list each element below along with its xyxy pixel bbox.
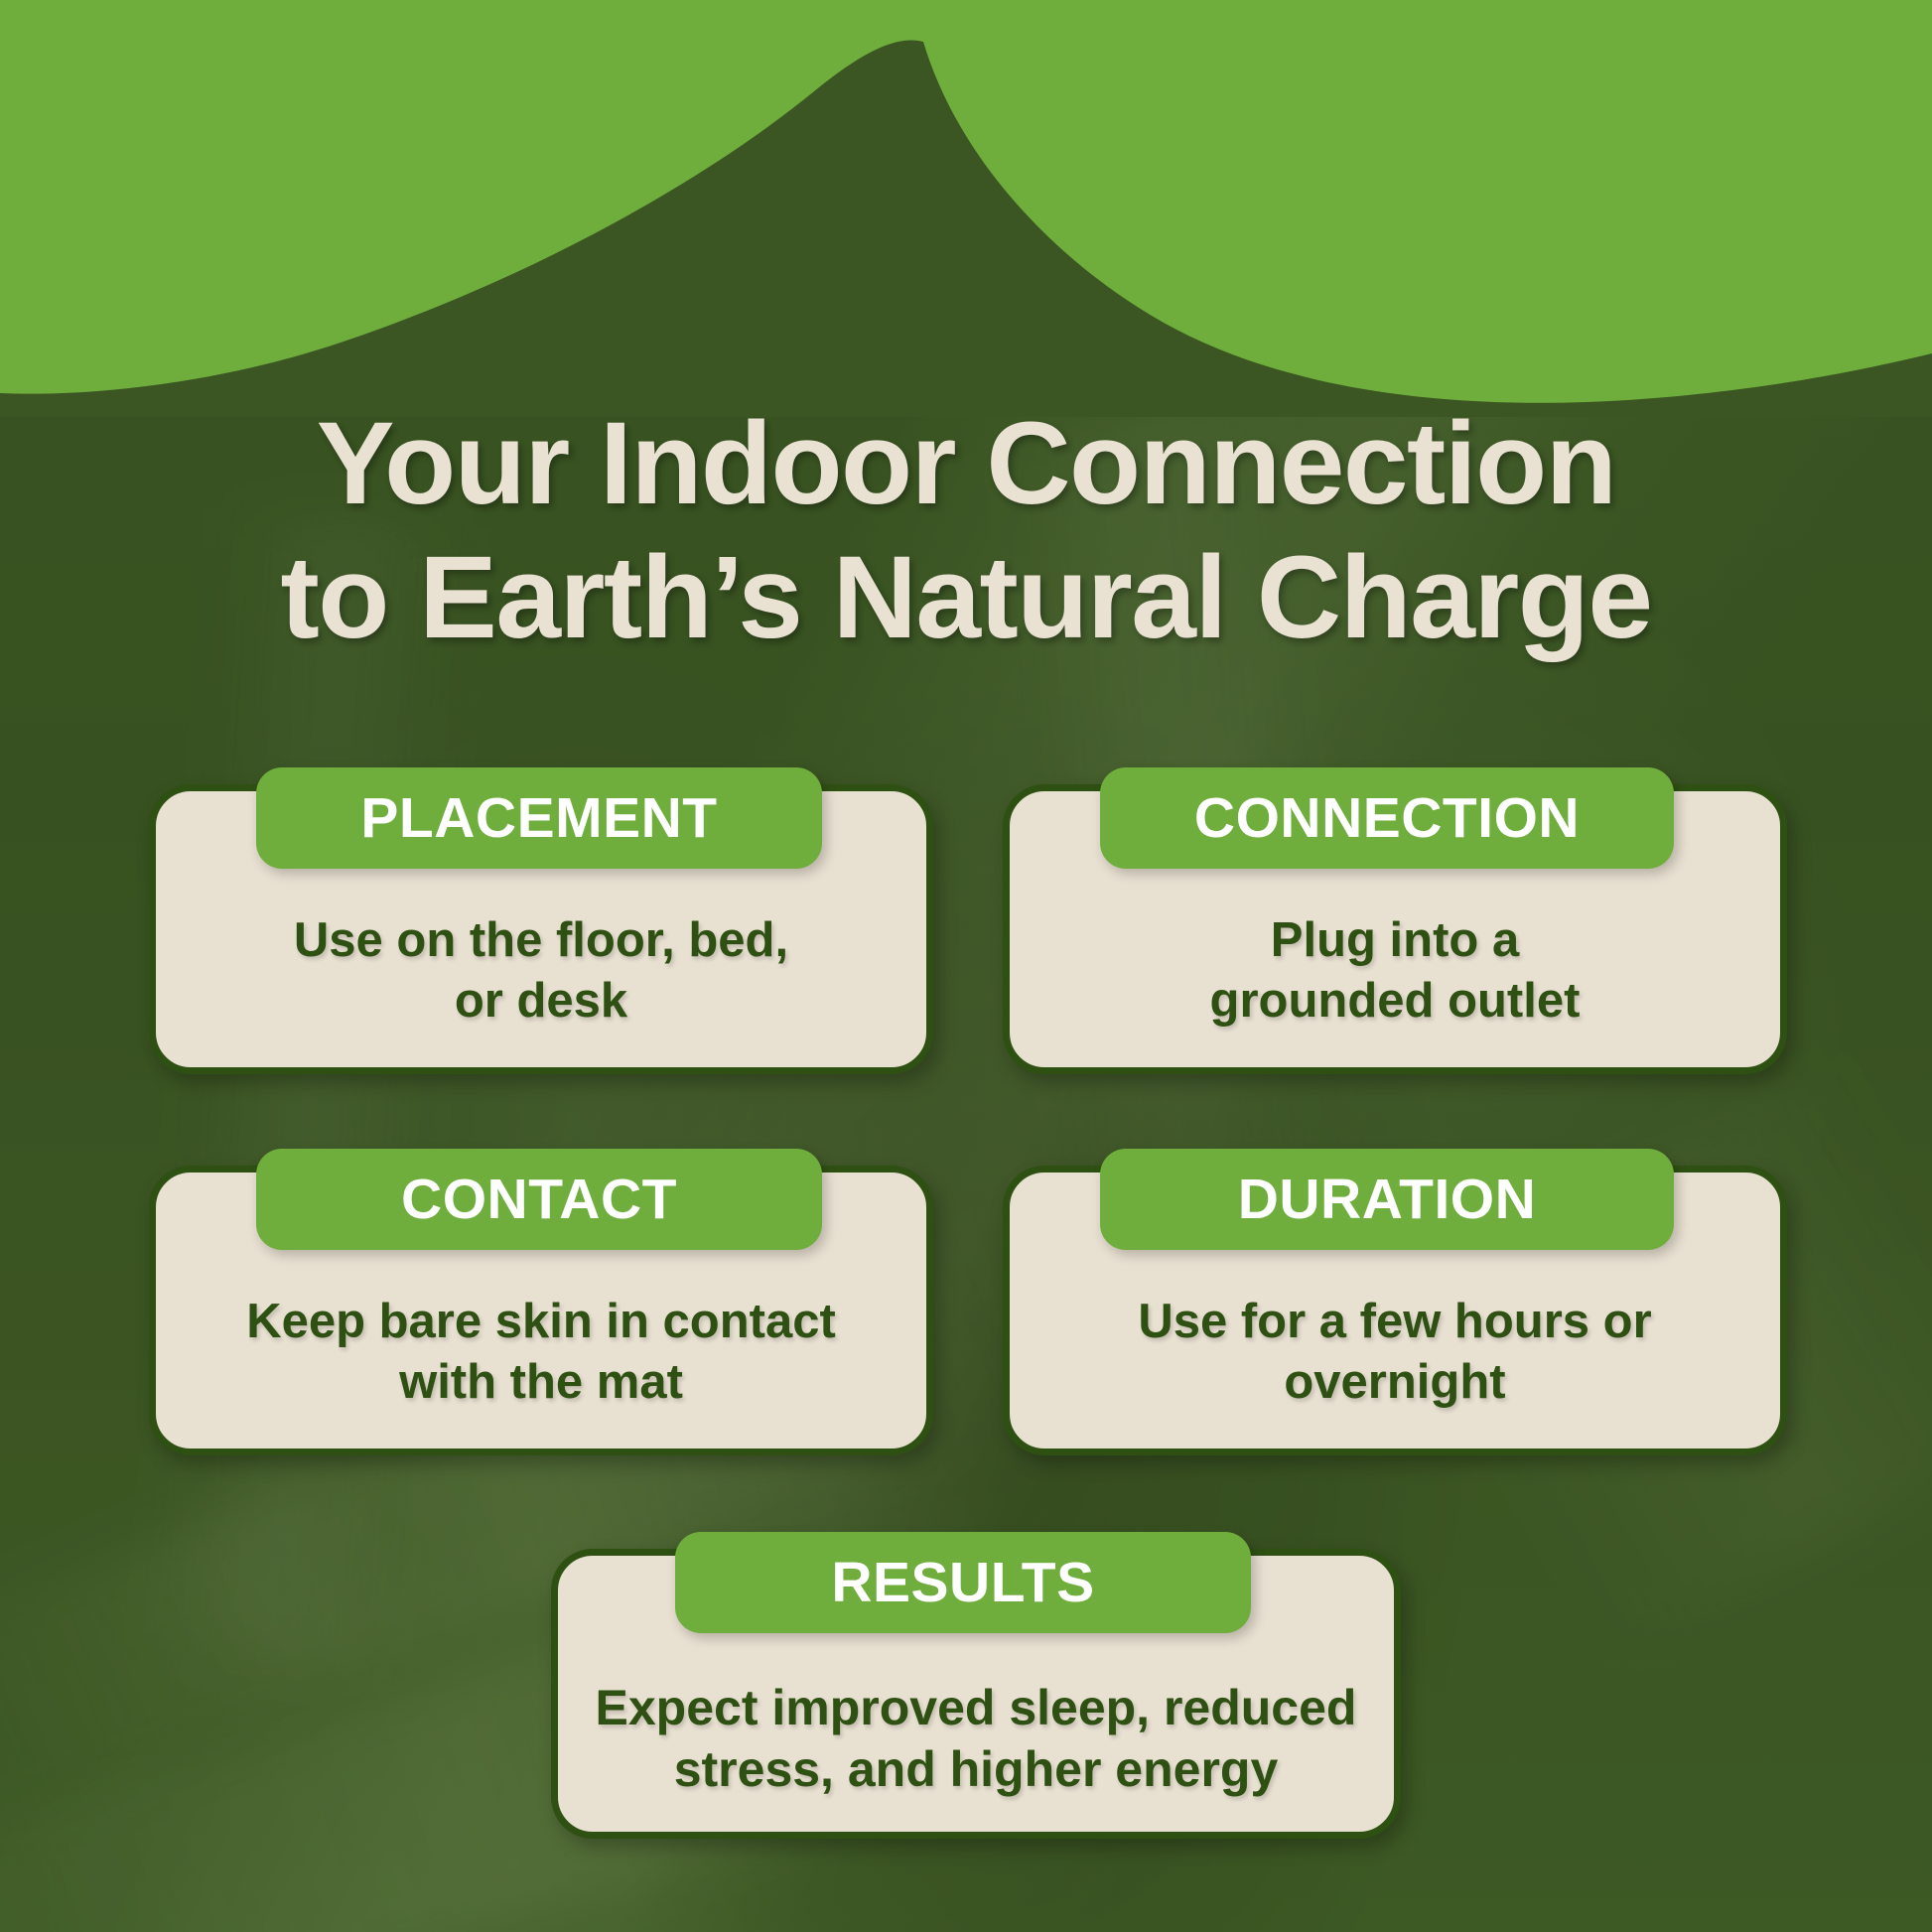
card-body-text: Keep bare skin in contact with the mat [182, 1292, 900, 1413]
card-badge-results: RESULTS [675, 1532, 1251, 1633]
card-badge-duration: DURATION [1100, 1149, 1674, 1250]
card-badge-contact: CONTACT [256, 1149, 822, 1250]
card-badge-connection: CONNECTION [1100, 767, 1674, 869]
infographic-canvas: Your Indoor Connection to Earth’s Natura… [0, 0, 1932, 1932]
card-body-text: Use on the floor, bed, or desk [182, 910, 900, 1032]
card-body-text: Plug into a grounded outlet [1035, 910, 1754, 1032]
header-band [0, 0, 1932, 417]
card-body-text: Expect improved sleep, reduced stress, a… [584, 1677, 1368, 1800]
arch-peak-shape [0, 0, 1932, 417]
page-title: Your Indoor Connection to Earth’s Natura… [0, 397, 1932, 664]
card-badge-placement: PLACEMENT [256, 767, 822, 869]
card-body-text: Use for a few hours or overnight [1035, 1292, 1754, 1413]
